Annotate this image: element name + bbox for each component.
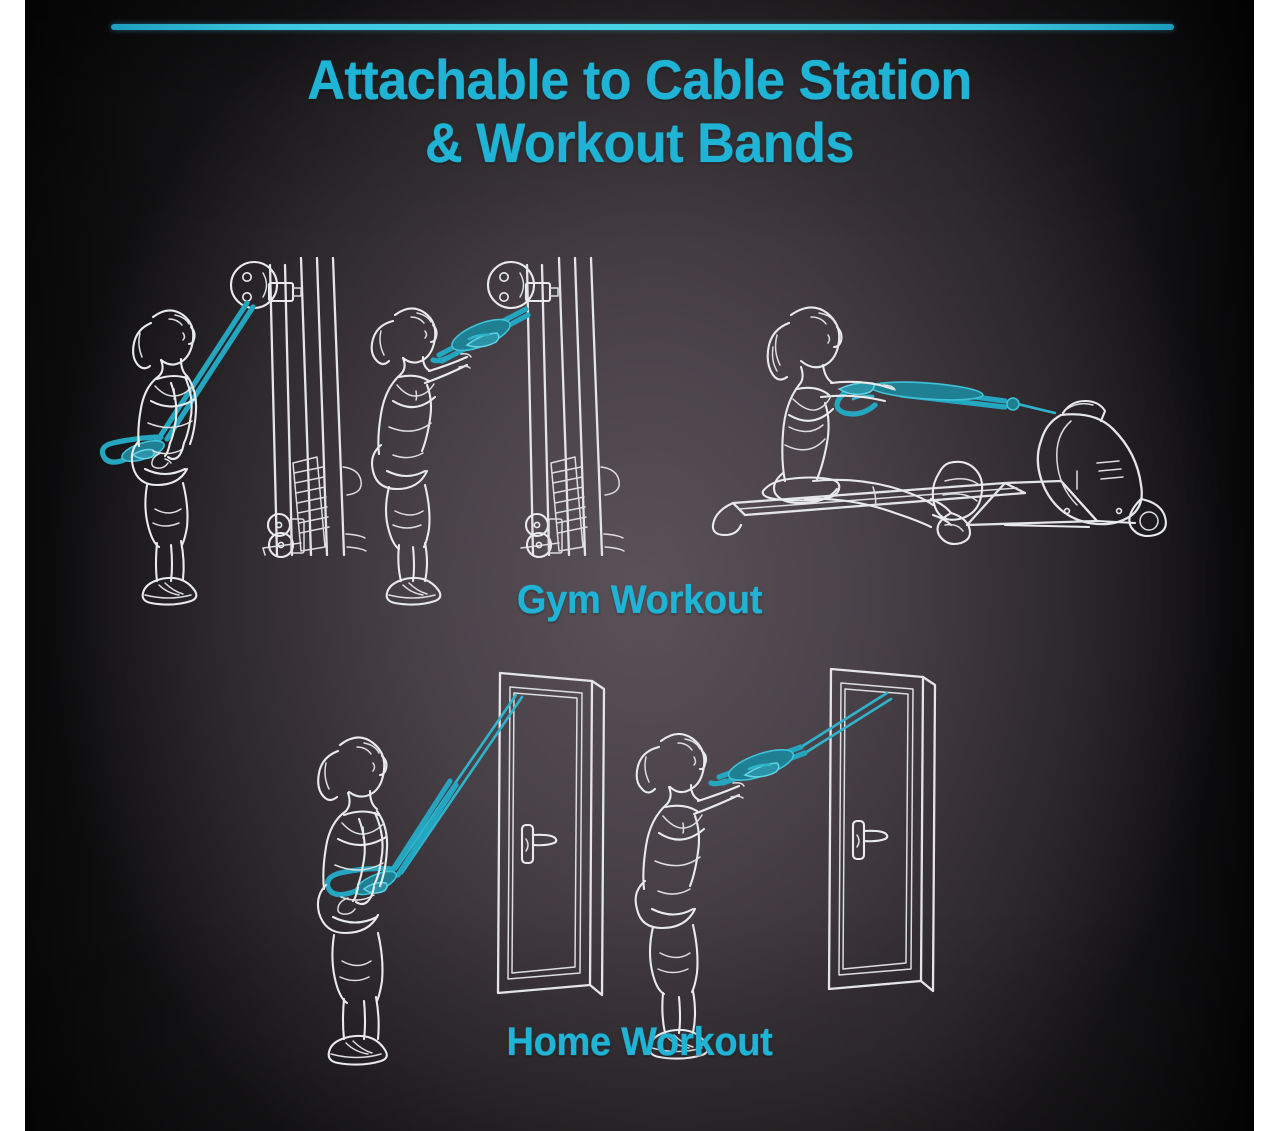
door-handle-icon bbox=[522, 825, 556, 863]
pulley-wheel-icon bbox=[231, 262, 301, 308]
resistance-band bbox=[711, 693, 891, 786]
section-caption-gym: Gym Workout bbox=[56, 578, 1224, 623]
figure-woman-seated-row bbox=[768, 307, 970, 544]
page-title-line-1: Attachable to Cable Station bbox=[68, 48, 1211, 111]
page-title: Attachable to Cable Station & Workout Ba… bbox=[68, 48, 1211, 175]
infographic-canvas: Attachable to Cable Station & Workout Ba… bbox=[25, 0, 1254, 1131]
door-handle-icon bbox=[853, 821, 887, 859]
illustration-door-anchor-extended-pose bbox=[615, 655, 955, 1015]
door-icon bbox=[498, 673, 604, 995]
cable-station-frame-icon bbox=[521, 258, 624, 555]
resistance-band bbox=[433, 309, 528, 361]
illustration-cable-station-extended-pose bbox=[343, 255, 643, 565]
header-divider-rule bbox=[111, 24, 1174, 30]
figure-woman-hinge-pose bbox=[318, 737, 387, 1064]
door-icon bbox=[829, 669, 935, 991]
page-title-line-2: & Workout Bands bbox=[68, 111, 1211, 174]
resistance-band bbox=[102, 303, 253, 465]
resistance-band bbox=[837, 379, 1055, 414]
pulley-wheel-icon bbox=[488, 262, 558, 308]
section-caption-home: Home Workout bbox=[56, 1020, 1224, 1065]
illustration-rowing-machine-pose bbox=[705, 285, 1205, 555]
resistance-band bbox=[328, 695, 523, 899]
illustration-door-anchor-hinge-pose bbox=[300, 655, 630, 1015]
